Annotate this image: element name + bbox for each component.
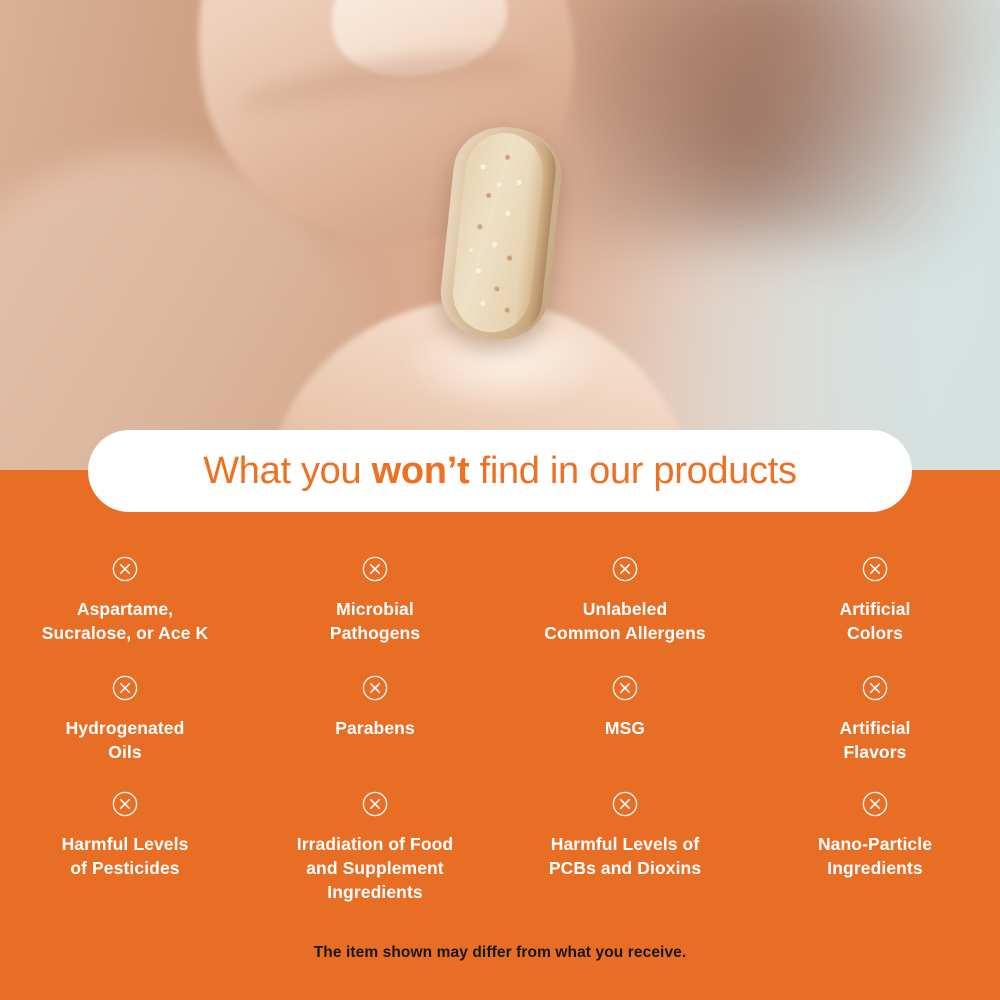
- grid-item-artificial-colors: Artificial Colors: [750, 540, 1000, 659]
- headline-pill: What you won’t find in our products: [88, 430, 912, 512]
- disclaimer-text: The item shown may differ from what you …: [0, 944, 1000, 962]
- grid-item-hydrogenated-oils: Hydrogenated Oils: [0, 659, 250, 775]
- exclusions-grid: Aspartame, Sucralose, or Ace K Microbial…: [0, 540, 1000, 905]
- grid-item-label: MSG: [605, 716, 645, 740]
- grid-item-nano-particle-ingredients: Nano-Particle Ingredients: [750, 775, 1000, 905]
- grid-item-msg: MSG: [500, 659, 750, 775]
- photo-shadow: [560, 0, 980, 240]
- circle-x-icon: [862, 556, 888, 587]
- circle-x-icon: [112, 675, 138, 706]
- grid-item-label: Harmful Levels of PCBs and Dioxins: [549, 832, 701, 880]
- grid-item-parabens: Parabens: [250, 659, 500, 775]
- page-title: What you won’t find in our products: [203, 450, 797, 493]
- circle-x-icon: [362, 791, 388, 822]
- grid-item-artificial-flavors: Artificial Flavors: [750, 659, 1000, 775]
- grid-item-aspartame-sucralose-ace-k: Aspartame, Sucralose, or Ace K: [0, 540, 250, 659]
- circle-x-icon: [362, 556, 388, 587]
- grid-item-label: Artificial Colors: [839, 597, 910, 645]
- grid-item-label: Irradiation of Food and Supplement Ingre…: [297, 832, 453, 904]
- grid-item-harmful-levels-pesticides: Harmful Levels of Pesticides: [0, 775, 250, 905]
- grid-item-label: Microbial Pathogens: [330, 597, 420, 645]
- grid-item-label: Unlabeled Common Allergens: [544, 597, 705, 645]
- grid-item-label: Parabens: [335, 716, 415, 740]
- grid-item-label: Aspartame, Sucralose, or Ace K: [42, 597, 209, 645]
- grid-item-harmful-levels-pcbs-dioxins: Harmful Levels of PCBs and Dioxins: [500, 775, 750, 905]
- grid-item-irradiation-food-supplement-ingredients: Irradiation of Food and Supplement Ingre…: [250, 775, 500, 905]
- circle-x-icon: [112, 791, 138, 822]
- circle-x-icon: [612, 675, 638, 706]
- circle-x-icon: [862, 791, 888, 822]
- headline-after: find in our products: [469, 450, 796, 492]
- hero-photo: [0, 0, 1000, 471]
- grid-item-label: Artificial Flavors: [839, 716, 910, 764]
- circle-x-icon: [362, 675, 388, 706]
- grid-item-label: Harmful Levels of Pesticides: [62, 832, 189, 880]
- grid-item-label: Nano-Particle Ingredients: [818, 832, 932, 880]
- grid-item-label: Hydrogenated Oils: [66, 716, 185, 764]
- headline-emphasis: won’t: [372, 450, 470, 492]
- product-infographic: What you won’t find in our products Aspa…: [0, 0, 1000, 1000]
- circle-x-icon: [112, 556, 138, 587]
- circle-x-icon: [612, 556, 638, 587]
- circle-x-icon: [862, 675, 888, 706]
- circle-x-icon: [612, 791, 638, 822]
- grid-item-microbial-pathogens: Microbial Pathogens: [250, 540, 500, 659]
- headline-before: What you: [203, 450, 371, 492]
- grid-item-unlabeled-common-allergens: Unlabeled Common Allergens: [500, 540, 750, 659]
